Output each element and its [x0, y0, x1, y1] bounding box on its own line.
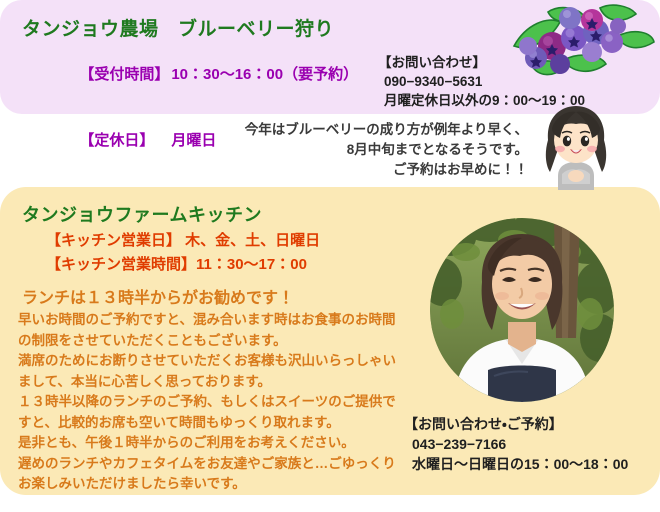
farm-detail-row: 【受付時間】10：30〜16：00（要予約）	[46, 42, 358, 108]
season-notice-line: ご予約はお早めに！！	[228, 160, 528, 180]
kitchen-panel-title: タンジョウファームキッチン	[22, 201, 262, 227]
farm-owner-portrait	[430, 218, 614, 402]
kitchen-contact-phone[interactable]: 043−239−7166	[404, 434, 628, 454]
farm-closedday-label: 【定休日】	[79, 130, 171, 152]
season-notice-line: 8月中旬までとなるそうです。	[228, 140, 528, 160]
season-notice-line: 今年はブルーベリーの成り方が例年より早く、	[228, 120, 528, 140]
kitchen-contact-heading: 【お問い合わせ・ご予約】	[404, 414, 628, 434]
lunch-body-line: の制限をさせていただくこともございます。	[18, 331, 418, 352]
page-root: タンジョウ農場 ブルーベリー狩り 【受付時間】10：30〜16：00（要予約） …	[0, 0, 660, 512]
farm-contact-heading: 【お問い合わせ】	[378, 53, 585, 72]
farm-owner-portrait-svg	[430, 218, 614, 402]
lunch-recommendation-body: 早いお時間のご予約ですと、混み合います時はお食事のお時間 の制限をさせていただく…	[18, 310, 418, 495]
lunch-body-line: すと、比較的お席も空いて時間もゆっくり取れます。	[18, 413, 418, 434]
lunch-body-line: 満席のためにお断りさせていただくお客様も沢山いらっしゃい	[18, 351, 418, 372]
kitchen-hours-list: 【キッチン営業日】 木、金、土、日曜日 【キッチン営業時間】11：30〜17：0…	[46, 229, 320, 277]
kitchen-contact-hours: 水曜日〜日曜日の15：00〜18：00	[404, 454, 628, 474]
smiling-girl-svg	[528, 106, 624, 190]
farm-contact-phone[interactable]: 090−9340−5631	[378, 72, 585, 91]
lunch-recommendation-heading: ランチは１３時半からがお勧めです！	[22, 284, 294, 308]
farm-panel-title: タンジョウ農場 ブルーベリー狩り	[22, 14, 334, 41]
farm-closedday-value: 月曜日	[171, 132, 216, 149]
season-notice: 今年はブルーベリーの成り方が例年より早く、 8月中旬までとなるそうです。 ご予約…	[228, 120, 528, 180]
farm-contact-hours: 月曜定休日以外の9：00〜19：00	[378, 91, 585, 110]
lunch-body-line: １３時半以降のランチのご予約、もしくはスイーツのご提供で	[18, 392, 418, 413]
kitchen-open-days: 【キッチン営業日】 木、金、土、日曜日	[46, 229, 320, 253]
lunch-body-line: 遅めのランチやカフェタイムをお友達やご家族と…ごゆっくり	[18, 454, 418, 475]
farm-reception-label: 【受付時間】	[79, 64, 171, 86]
lunch-body-line: 早いお時間のご予約ですと、混み合います時はお食事のお時間	[18, 310, 418, 331]
lunch-body-line: お楽しみいただけましたら幸いです。	[18, 474, 418, 495]
lunch-body-line: まして、本当に心苦しく思っております。	[18, 372, 418, 393]
smiling-girl-icon	[528, 106, 624, 190]
farm-reception-value: 10：30〜16：00（要予約）	[171, 66, 358, 83]
kitchen-contact-block: 【お問い合わせ・ご予約】 043−239−7166 水曜日〜日曜日の15：00〜…	[404, 414, 628, 474]
lunch-body-line: 是非とも、午後１時半からのご利用をお考えください。	[18, 433, 418, 454]
kitchen-open-time: 【キッチン営業時間】11：30〜17：00	[46, 253, 320, 277]
farm-contact-block: 【お問い合わせ】 090−9340−5631 月曜定休日以外の9：00〜19：0…	[378, 53, 585, 110]
